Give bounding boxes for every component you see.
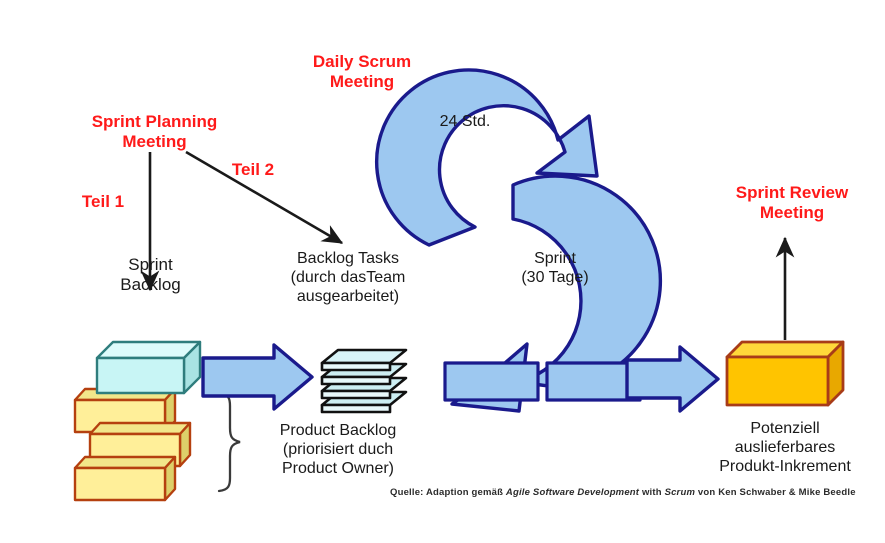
label-sprint-review-meeting: Sprint Review Meeting bbox=[712, 183, 872, 223]
source-prefix: Quelle: Adaption gemäß bbox=[390, 487, 506, 498]
scrum-process-diagram: Sprint Planning Meeting Daily Scrum Meet… bbox=[0, 0, 885, 543]
backlog-tasks-paper-stack bbox=[322, 350, 406, 412]
label-teil-1: Teil 1 bbox=[72, 192, 134, 212]
arrow-backlog-to-sprint bbox=[203, 345, 312, 409]
label-daily-scrum-meeting: Daily Scrum Meeting bbox=[282, 52, 442, 92]
product-backlog-block-bottom bbox=[75, 457, 175, 500]
source-attribution: Quelle: Adaption gemäß Agile Software De… bbox=[390, 487, 856, 498]
product-increment-box bbox=[727, 342, 843, 405]
product-backlog-brace bbox=[219, 393, 240, 491]
source-book-title-part1: Agile Software Development bbox=[506, 487, 639, 498]
label-product-backlog: Product Backlog (priorisiert duch Produc… bbox=[243, 422, 433, 479]
label-sprint-planning-meeting: Sprint Planning Meeting bbox=[72, 112, 237, 152]
sprint-band-left bbox=[445, 363, 538, 400]
source-book-title-part2: Scrum bbox=[665, 487, 696, 498]
label-sprint-duration: Sprint (30 Tage) bbox=[495, 250, 615, 288]
label-daily-cycle-duration: 24 Std. bbox=[420, 113, 510, 132]
sprint-backlog-box bbox=[97, 342, 200, 393]
label-teil-2: Teil 2 bbox=[222, 160, 284, 180]
label-backlog-tasks: Backlog Tasks (durch dasTeam ausgearbeit… bbox=[262, 250, 434, 307]
label-product-increment: Potenziell auslieferbares Produkt-Inkrem… bbox=[690, 420, 880, 477]
source-suffix: von Ken Schwaber & Mike Beedle bbox=[695, 487, 856, 498]
source-middle: with bbox=[639, 487, 664, 498]
label-sprint-backlog: Sprint Backlog bbox=[88, 255, 213, 295]
